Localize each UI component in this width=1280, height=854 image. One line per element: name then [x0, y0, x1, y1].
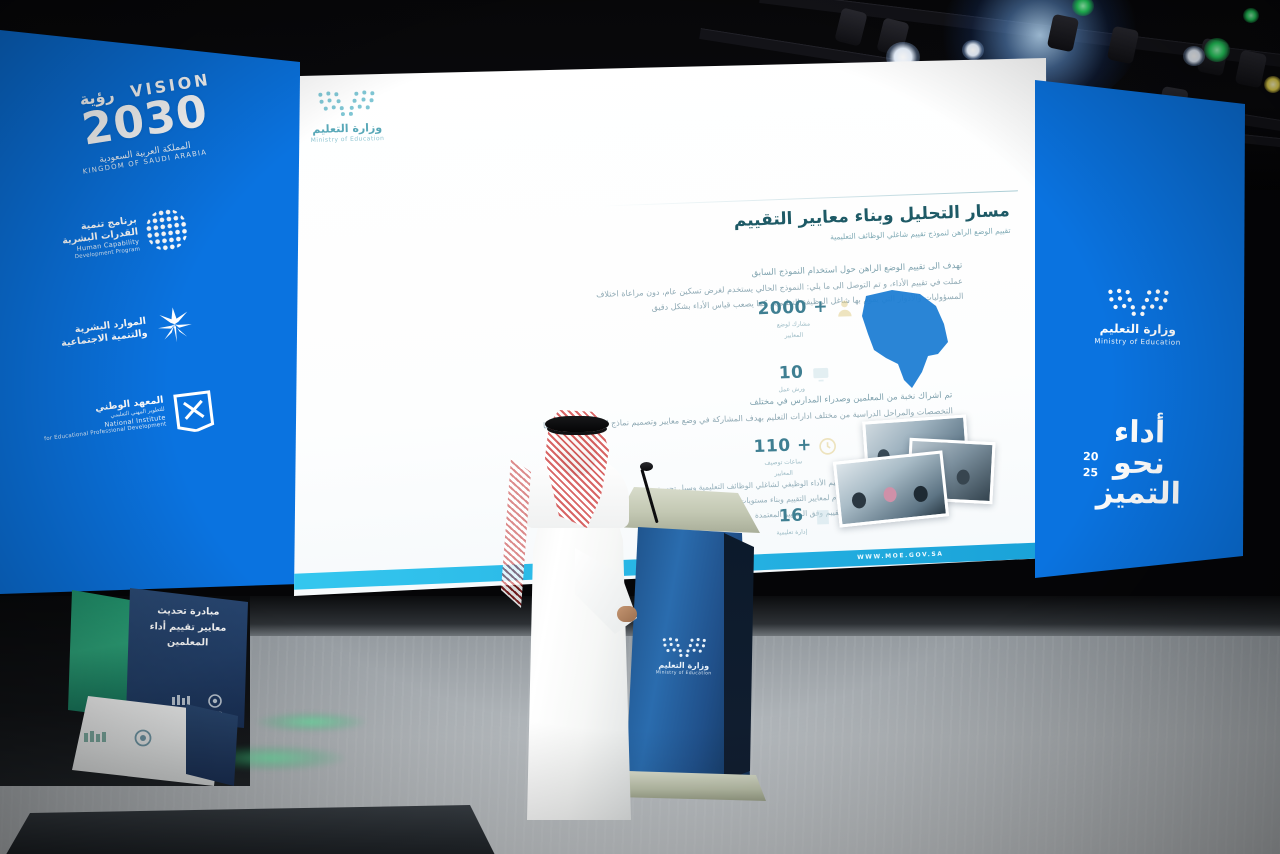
podium-moe-arabic: وزارة التعليم: [656, 661, 712, 671]
stat-value: + 2000: [757, 297, 828, 320]
event-line-3: التميز: [1068, 478, 1209, 511]
podium-ministry-logo: وزارة التعليم Ministry of Education: [656, 637, 713, 677]
ministry-palm-dots-icon: [659, 637, 709, 658]
partner-seal-icon: [128, 729, 158, 747]
workshop-photo-collage: [836, 418, 1006, 528]
stat-hours: + 110 ساعات توصيف المعايير: [753, 435, 813, 479]
logo-national-institute: المعهد الوطني للتطوير المهني التعليمي Na…: [40, 386, 215, 447]
standee-white-logos: [84, 728, 194, 748]
stat-label-1: ساعات توصيف: [754, 457, 812, 468]
event-line-1: أداء: [1069, 417, 1210, 450]
standee-title: مبادرة تحديث معايير تقييم أداء المعلمين: [136, 603, 241, 652]
collage-photo: [833, 450, 949, 527]
moe-english-right: Ministry of Education: [1063, 337, 1213, 348]
stat-label-1: مشارك لوضع: [758, 319, 829, 331]
event-year-bottom: 25: [1083, 467, 1099, 479]
slide-title-block: مسار التحليل وبناء معايير التقييم تقييم …: [733, 201, 1010, 245]
speaker-hand: [617, 606, 637, 622]
stat-participants: + 2000 مشارك لوضع المعايير: [757, 297, 829, 342]
partner-logo-icon: [172, 695, 198, 707]
stage-scene: رؤية VISION 2030 المملكة العربية السعودي…: [0, 0, 1280, 854]
stat-label-1: ورش عمل: [778, 385, 805, 395]
slide-footer-url: WWW.MOE.GOV.SA: [857, 551, 944, 562]
foreground-standee: مبادرة تحديث معايير تقييم أداء المعلمين: [68, 578, 248, 788]
stat-label-2: المعايير: [758, 330, 829, 342]
ministry-palm-dots-icon: [1102, 287, 1174, 316]
slide-moe-arabic: وزارة التعليم: [310, 121, 384, 136]
stat-value: 16: [775, 505, 807, 526]
stat-value: + 110: [753, 435, 812, 457]
podium-side-panel: [724, 531, 754, 781]
stat-departments: 16 إدارة تعليمية: [775, 505, 807, 537]
standee-partner-logos: [164, 694, 234, 708]
stat-value: 10: [777, 363, 804, 384]
saudi-arabia-map: [848, 280, 968, 400]
standee-title-line3: المعلمين: [136, 634, 240, 652]
palm-star-icon: [152, 302, 197, 347]
event-branding: أداء نحو التميز 20 25: [1068, 417, 1210, 511]
building-icon: [812, 506, 833, 527]
stat-workshops: 10 ورش عمل: [777, 363, 805, 395]
led-panel-right: وزارة التعليم Ministry of Education أداء…: [1035, 80, 1260, 578]
ministry-palm-dots-icon: [314, 89, 379, 117]
shemagh-drape: [501, 458, 531, 608]
logo-human-capability-development-program: برنامج تنمية القدرات البشرية Human Capab…: [60, 206, 191, 263]
stat-label-1: إدارة تعليمية: [776, 527, 807, 537]
event-year-top: 20: [1083, 451, 1099, 463]
green-floor-light: [256, 712, 366, 732]
workshop-icon: [810, 364, 831, 385]
led-panel-left: رؤية VISION 2030 المملكة العربية السعودي…: [0, 18, 300, 594]
partner-logo-icon: [84, 730, 118, 746]
slide-moe-english: Ministry of Education: [311, 135, 385, 144]
hcdp-emblem-icon: [144, 206, 191, 253]
national-institute-emblem-icon: [170, 386, 215, 431]
moe-logo-right-panel: وزارة التعليم Ministry of Education: [1063, 287, 1214, 348]
stage-ramp-panel: [0, 805, 500, 854]
partner-seal-icon: [204, 694, 226, 708]
vision-2030-logo: رؤية VISION 2030 المملكة العربية السعودي…: [70, 80, 220, 166]
logo-human-resources-social-development: الموارد البشرية والتنمية الاجتماعية: [58, 302, 197, 358]
speaker-person: [505, 400, 655, 820]
speaker-igal: [545, 416, 609, 432]
standee-title-line2: معايير تقييم أداء: [136, 619, 240, 637]
moe-arabic-right: وزارة التعليم: [1063, 321, 1213, 338]
podium-moe-english: Ministry of Education: [656, 671, 712, 677]
slide-ministry-logo: وزارة التعليم Ministry of Education: [309, 89, 384, 144]
